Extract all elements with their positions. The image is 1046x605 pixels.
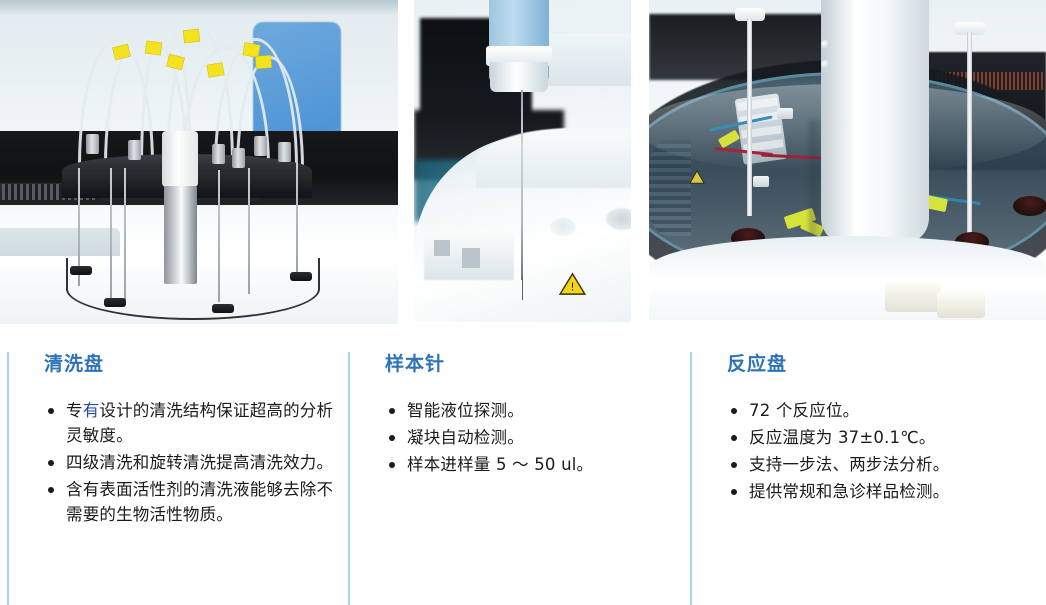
- feature-list-item: 四级清洗和旋转清洗提高清洗效力。: [44, 450, 339, 475]
- feature-list-item: 支持一步法、两步法分析。: [727, 452, 1037, 477]
- feature-text: 支持一步法、两步法分析。: [749, 455, 949, 474]
- feature-list-item: 专有设计的清洗结构保证超高的分析灵敏度。: [44, 398, 339, 448]
- feature-text: 72 个反应位。: [749, 401, 859, 420]
- feature-list-item: 样本进样量 5 ～ 50 ul。: [385, 452, 680, 477]
- feature-list-item: 72 个反应位。: [727, 398, 1037, 423]
- feature-list-sample-probe: 智能液位探测。凝块自动检测。样本进样量 5 ～ 50 ul。: [385, 376, 680, 477]
- feature-column-sample-probe: 样本针 智能液位探测。凝块自动检测。样本进样量 5 ～ 50 ul。: [385, 326, 680, 479]
- feature-text: 反应温度为 37±0.1℃。: [749, 428, 936, 447]
- column-title-wash-tray: 清洗盘: [44, 326, 339, 376]
- feature-columns: 清洗盘 专有设计的清洗结构保证超高的分析灵敏度。四级清洗和旋转清洗提高清洗效力。…: [0, 326, 1046, 605]
- feature-text: 智能液位探测。: [407, 401, 524, 420]
- feature-list-item: 智能液位探测。: [385, 398, 680, 423]
- feature-list-reaction-disc: 72 个反应位。反应温度为 37±0.1℃。支持一步法、两步法分析。提供常规和急…: [727, 376, 1037, 504]
- column-title-sample-probe: 样本针: [385, 326, 680, 376]
- feature-text: 专: [66, 401, 83, 420]
- column-divider-right: [690, 352, 692, 605]
- wash-station-photo: [0, 0, 398, 324]
- feature-text: 含有表面活性剂的清洗液能够去除不需要的生物活性物质。: [66, 480, 333, 524]
- feature-list-wash-tray: 专有设计的清洗结构保证超高的分析灵敏度。四级清洗和旋转清洗提高清洗效力。含有表面…: [44, 376, 339, 527]
- feature-list-item: 含有表面活性剂的清洗液能够去除不需要的生物活性物质。: [44, 477, 339, 527]
- feature-text: 提供常规和急诊样品检测。: [749, 482, 949, 501]
- highlighted-text: 有: [83, 401, 100, 420]
- svg-text:!: !: [570, 281, 574, 294]
- feature-text: 凝块自动检测。: [407, 428, 524, 447]
- product-photo-strip: !: [0, 0, 1046, 326]
- feature-text: 设计的清洗结构保证超高的分析灵敏度。: [66, 401, 333, 445]
- feature-text: 样本进样量 5 ～ 50 ul。: [407, 455, 593, 474]
- feature-list-item: 提供常规和急诊样品检测。: [727, 479, 1037, 504]
- column-title-reaction-disc: 反应盘: [727, 326, 1037, 376]
- feature-text: 四级清洗和旋转清洗提高清洗效力。: [66, 453, 333, 472]
- feature-column-reaction-disc: 反应盘 72 个反应位。反应温度为 37±0.1℃。支持一步法、两步法分析。提供…: [727, 326, 1037, 506]
- column-divider-left: [7, 352, 9, 605]
- feature-list-item: 反应温度为 37±0.1℃。: [727, 425, 1037, 450]
- sample-probe-photo: !: [414, 0, 631, 322]
- feature-list-item: 凝块自动检测。: [385, 425, 680, 450]
- column-divider-middle: [348, 352, 350, 605]
- warning-triangle-small-icon: [689, 170, 705, 184]
- reaction-disc-photo: [649, 0, 1046, 320]
- warning-triangle-icon: !: [559, 272, 586, 295]
- feature-column-wash-tray: 清洗盘 专有设计的清洗结构保证超高的分析灵敏度。四级清洗和旋转清洗提高清洗效力。…: [44, 326, 339, 529]
